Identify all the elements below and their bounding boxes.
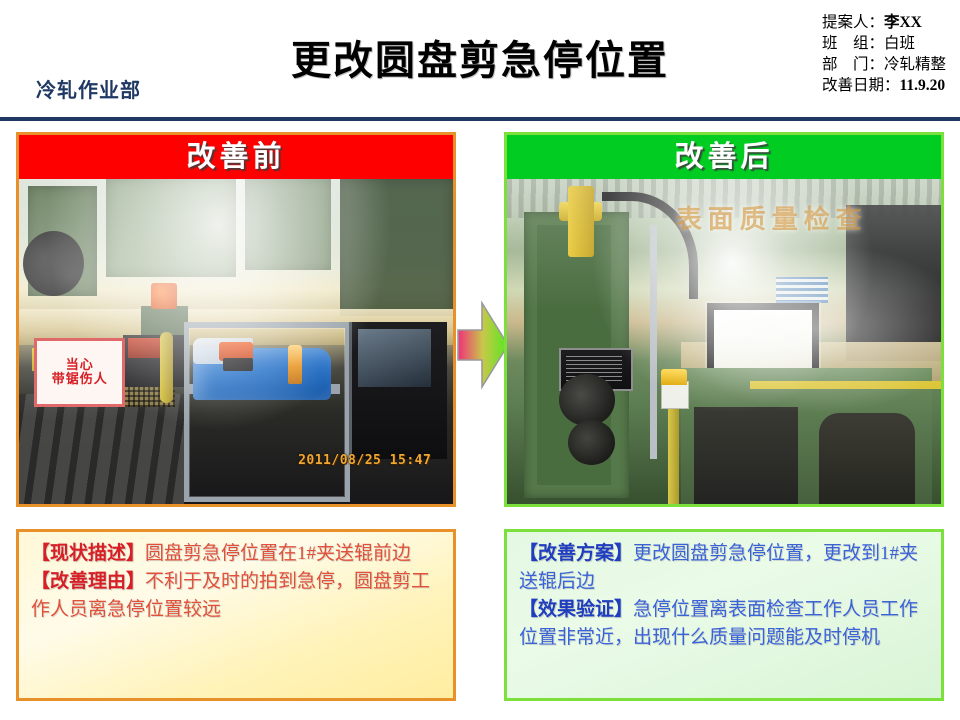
meta-row-date: 改善日期：11.9.20 — [822, 75, 946, 96]
warning-sign-line-2: 带锯伤人 — [52, 372, 108, 387]
after-panel-title: 改善后 — [507, 135, 941, 179]
after-photo: 表面质量检查 — [507, 179, 941, 504]
meta-key-date: 改善日期： — [822, 75, 900, 96]
after-block-2-tag: 【效果验证】 — [519, 599, 633, 620]
photo-timestamp: 2011/08/25 15:47 — [298, 453, 431, 468]
machine-block-center — [106, 179, 236, 277]
after-block-1-tag: 【改善方案】 — [519, 543, 633, 564]
meta-key-proposer: 提案人： — [822, 12, 884, 33]
guide-rod — [650, 225, 657, 459]
dark-tool — [223, 358, 253, 371]
header-divider-rule — [0, 117, 960, 121]
meta-info-block: 提案人：李XX 班 组：白班 部 门：冷轧精整 改善日期：11.9.20 — [822, 12, 946, 96]
before-panel: 改善前 当心 带锯伤人 2011/08/25 15:47 — [16, 132, 456, 507]
meta-value-dept: 冷轧精整 — [884, 56, 946, 73]
machine-lower-dark-right — [819, 413, 914, 504]
floor-grating — [19, 394, 184, 505]
estop-housing — [141, 306, 189, 335]
machine-block-mid-right — [245, 179, 332, 270]
right-arrow-icon — [456, 300, 510, 390]
meta-key-dept: 部 门： — [822, 54, 884, 75]
slide-header: 冷轧作业部 更改圆盘剪急停位置 提案人：李XX 班 组：白班 部 门：冷轧精整 … — [0, 0, 960, 119]
machine-lower-dark — [694, 407, 798, 505]
before-photo: 当心 带锯伤人 2011/08/25 15:47 — [19, 179, 453, 504]
before-panel-title: 改善前 — [19, 135, 453, 179]
coil-drum — [23, 231, 84, 296]
after-block-2: 【效果验证】急停位置离表面检查工作人员工作位置非常近，出现什么质量问题能及时停机 — [519, 596, 931, 652]
meta-key-shift: 班 组： — [822, 33, 884, 54]
before-block-1-text: 圆盘剪急停位置在1#夹送辊前边 — [145, 543, 411, 564]
background-dark-area — [846, 205, 941, 361]
transition-arrow — [456, 300, 510, 390]
cutter-disk-lower — [568, 420, 616, 466]
meta-row-dept: 部 门：冷轧精整 — [822, 54, 946, 75]
warning-sign: 当心 带锯伤人 — [34, 338, 125, 406]
before-block-2: 【改善理由】不利于及时的拍到急停，圆盘剪工作人员离急停位置较远 — [31, 568, 443, 624]
hydraulic-cylinder — [568, 186, 594, 258]
page-title: 更改圆盘剪急停位置 — [200, 28, 760, 86]
after-block-1: 【改善方案】更改圆盘剪急停位置，更改到1#夹送辊后边 — [519, 540, 931, 596]
emergency-stop-button — [661, 369, 687, 385]
blue-striped-panel — [776, 277, 828, 303]
meta-value-proposer: 李XX — [884, 14, 922, 31]
before-block-2-tag: 【改善理由】 — [31, 571, 145, 592]
meta-row-proposer: 提案人：李XX — [822, 12, 946, 33]
before-block-1-tag: 【现状描述】 — [31, 543, 145, 564]
machine-block-right — [340, 179, 453, 316]
yellow-safety-line — [750, 381, 941, 389]
meta-value-shift: 白班 — [884, 35, 915, 52]
meta-value-date: 11.9.20 — [899, 77, 945, 94]
before-block-1: 【现状描述】圆盘剪急停位置在1#夹送辊前边 — [31, 540, 443, 568]
department-label: 冷轧作业部 — [36, 74, 141, 103]
after-description-box: 【改善方案】更改圆盘剪急停位置，更改到1#夹送辊后边 【效果验证】急停位置离表面… — [504, 529, 944, 701]
arrow-shape — [458, 303, 508, 387]
bottle — [288, 345, 302, 384]
cutter-disk-upper — [559, 374, 615, 426]
before-description-box: 【现状描述】圆盘剪急停位置在1#夹送辊前边 【改善理由】不利于及时的拍到急停，圆… — [16, 529, 456, 701]
emergency-stop-button — [151, 283, 177, 309]
right-glass-panel — [358, 329, 432, 388]
cabinet-red-face — [128, 338, 163, 358]
after-panel: 改善后 表面质量检查 — [504, 132, 944, 507]
meta-row-shift: 班 组：白班 — [822, 33, 946, 54]
estop-stand-pole — [160, 332, 173, 404]
estop-stand-pole — [668, 403, 678, 504]
warning-sign-line-1: 当心 — [66, 358, 94, 373]
